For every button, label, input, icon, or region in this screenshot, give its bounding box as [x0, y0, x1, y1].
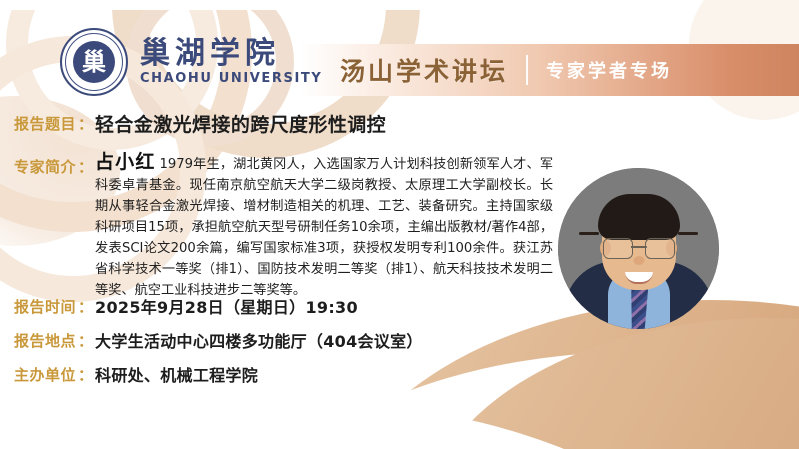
report-host-value: 科研处、机械工程学院	[95, 362, 258, 386]
report-title-value: 轻合金激光焊接的跨尺度形性调控	[95, 110, 386, 137]
seal-glyph: 巢	[82, 50, 106, 74]
speaker-name: 占小红	[95, 151, 155, 173]
university-name-block: 巢湖学院 CHAOHU UNIVERSITY	[140, 38, 322, 86]
university-name-cn: 巢湖学院	[140, 38, 322, 70]
speaker-bio-colon: ：	[76, 152, 95, 177]
report-place-value: 大学生活动中心四楼多功能厅（404会议室）	[95, 328, 423, 352]
report-title-row: 报告题目 ： 轻合金激光焊接的跨尺度形性调控	[14, 110, 386, 137]
report-place-label: 报告地点	[14, 330, 76, 351]
university-seal-icon: 巢	[60, 28, 128, 96]
bottom-swoosh-cut-2	[0, 398, 720, 449]
poster-root: 汤山学术讲坛 专家学者专场 巢 巢湖学院 CHAOHU UNIVERSITY 报…	[0, 0, 799, 449]
report-time-row: 报告时间 ： 2025年9月28日（星期日）19:30	[14, 294, 358, 318]
speaker-bio-label: 专家简介	[14, 152, 76, 177]
portrait-nose	[633, 256, 644, 265]
portrait-eyebrow-left	[579, 232, 599, 235]
bottom-swoosh-shape-2	[418, 318, 799, 449]
banner-content: 汤山学术讲坛 专家学者专场	[340, 52, 672, 88]
report-time-label: 报告时间	[14, 296, 76, 317]
speaker-bio-paragraph: 1979年生，湖北黄冈人，入选国家万人计划科技创新领军人才、军科委卓青基金。现任…	[95, 157, 553, 298]
report-time-colon: ：	[76, 296, 95, 317]
banner-subtitle: 专家学者专场	[546, 57, 672, 83]
portrait-glasses-icon	[603, 238, 675, 258]
seal-center: 巢	[73, 41, 115, 83]
university-logo: 巢 巢湖学院 CHAOHU UNIVERSITY	[60, 28, 322, 96]
speaker-portrait	[558, 168, 719, 329]
report-host-label: 主办单位	[14, 364, 76, 385]
glasses-lens-right	[645, 238, 675, 259]
glasses-lens-left	[603, 238, 633, 259]
report-title-label: 报告题目	[14, 113, 76, 134]
top-edge-mask	[0, 0, 799, 10]
speaker-bio-row: 专家简介 ： 占小红1979年生，湖北黄冈人，入选国家万人计划科技创新领军人才、…	[14, 152, 554, 301]
university-name-en: CHAOHU UNIVERSITY	[140, 71, 322, 86]
report-host-colon: ：	[76, 364, 95, 385]
report-host-row: 主办单位 ： 科研处、机械工程学院	[14, 362, 258, 386]
banner-divider	[526, 55, 528, 85]
lecture-series-banner: 汤山学术讲坛 专家学者专场	[300, 44, 799, 96]
report-place-row: 报告地点 ： 大学生活动中心四楼多功能厅（404会议室）	[14, 328, 423, 352]
report-place-colon: ：	[76, 330, 95, 351]
report-title-colon: ：	[76, 113, 95, 134]
bottom-swoosh-cut-1	[236, 352, 799, 449]
report-time-value: 2025年9月28日（星期日）19:30	[95, 294, 358, 318]
banner-title: 汤山学术讲坛	[340, 52, 508, 88]
speaker-bio-text: 占小红1979年生，湖北黄冈人，入选国家万人计划科技创新领军人才、军科委卓青基金…	[95, 152, 553, 301]
portrait-hair	[598, 194, 680, 240]
portrait-eyebrow-right	[678, 232, 698, 235]
